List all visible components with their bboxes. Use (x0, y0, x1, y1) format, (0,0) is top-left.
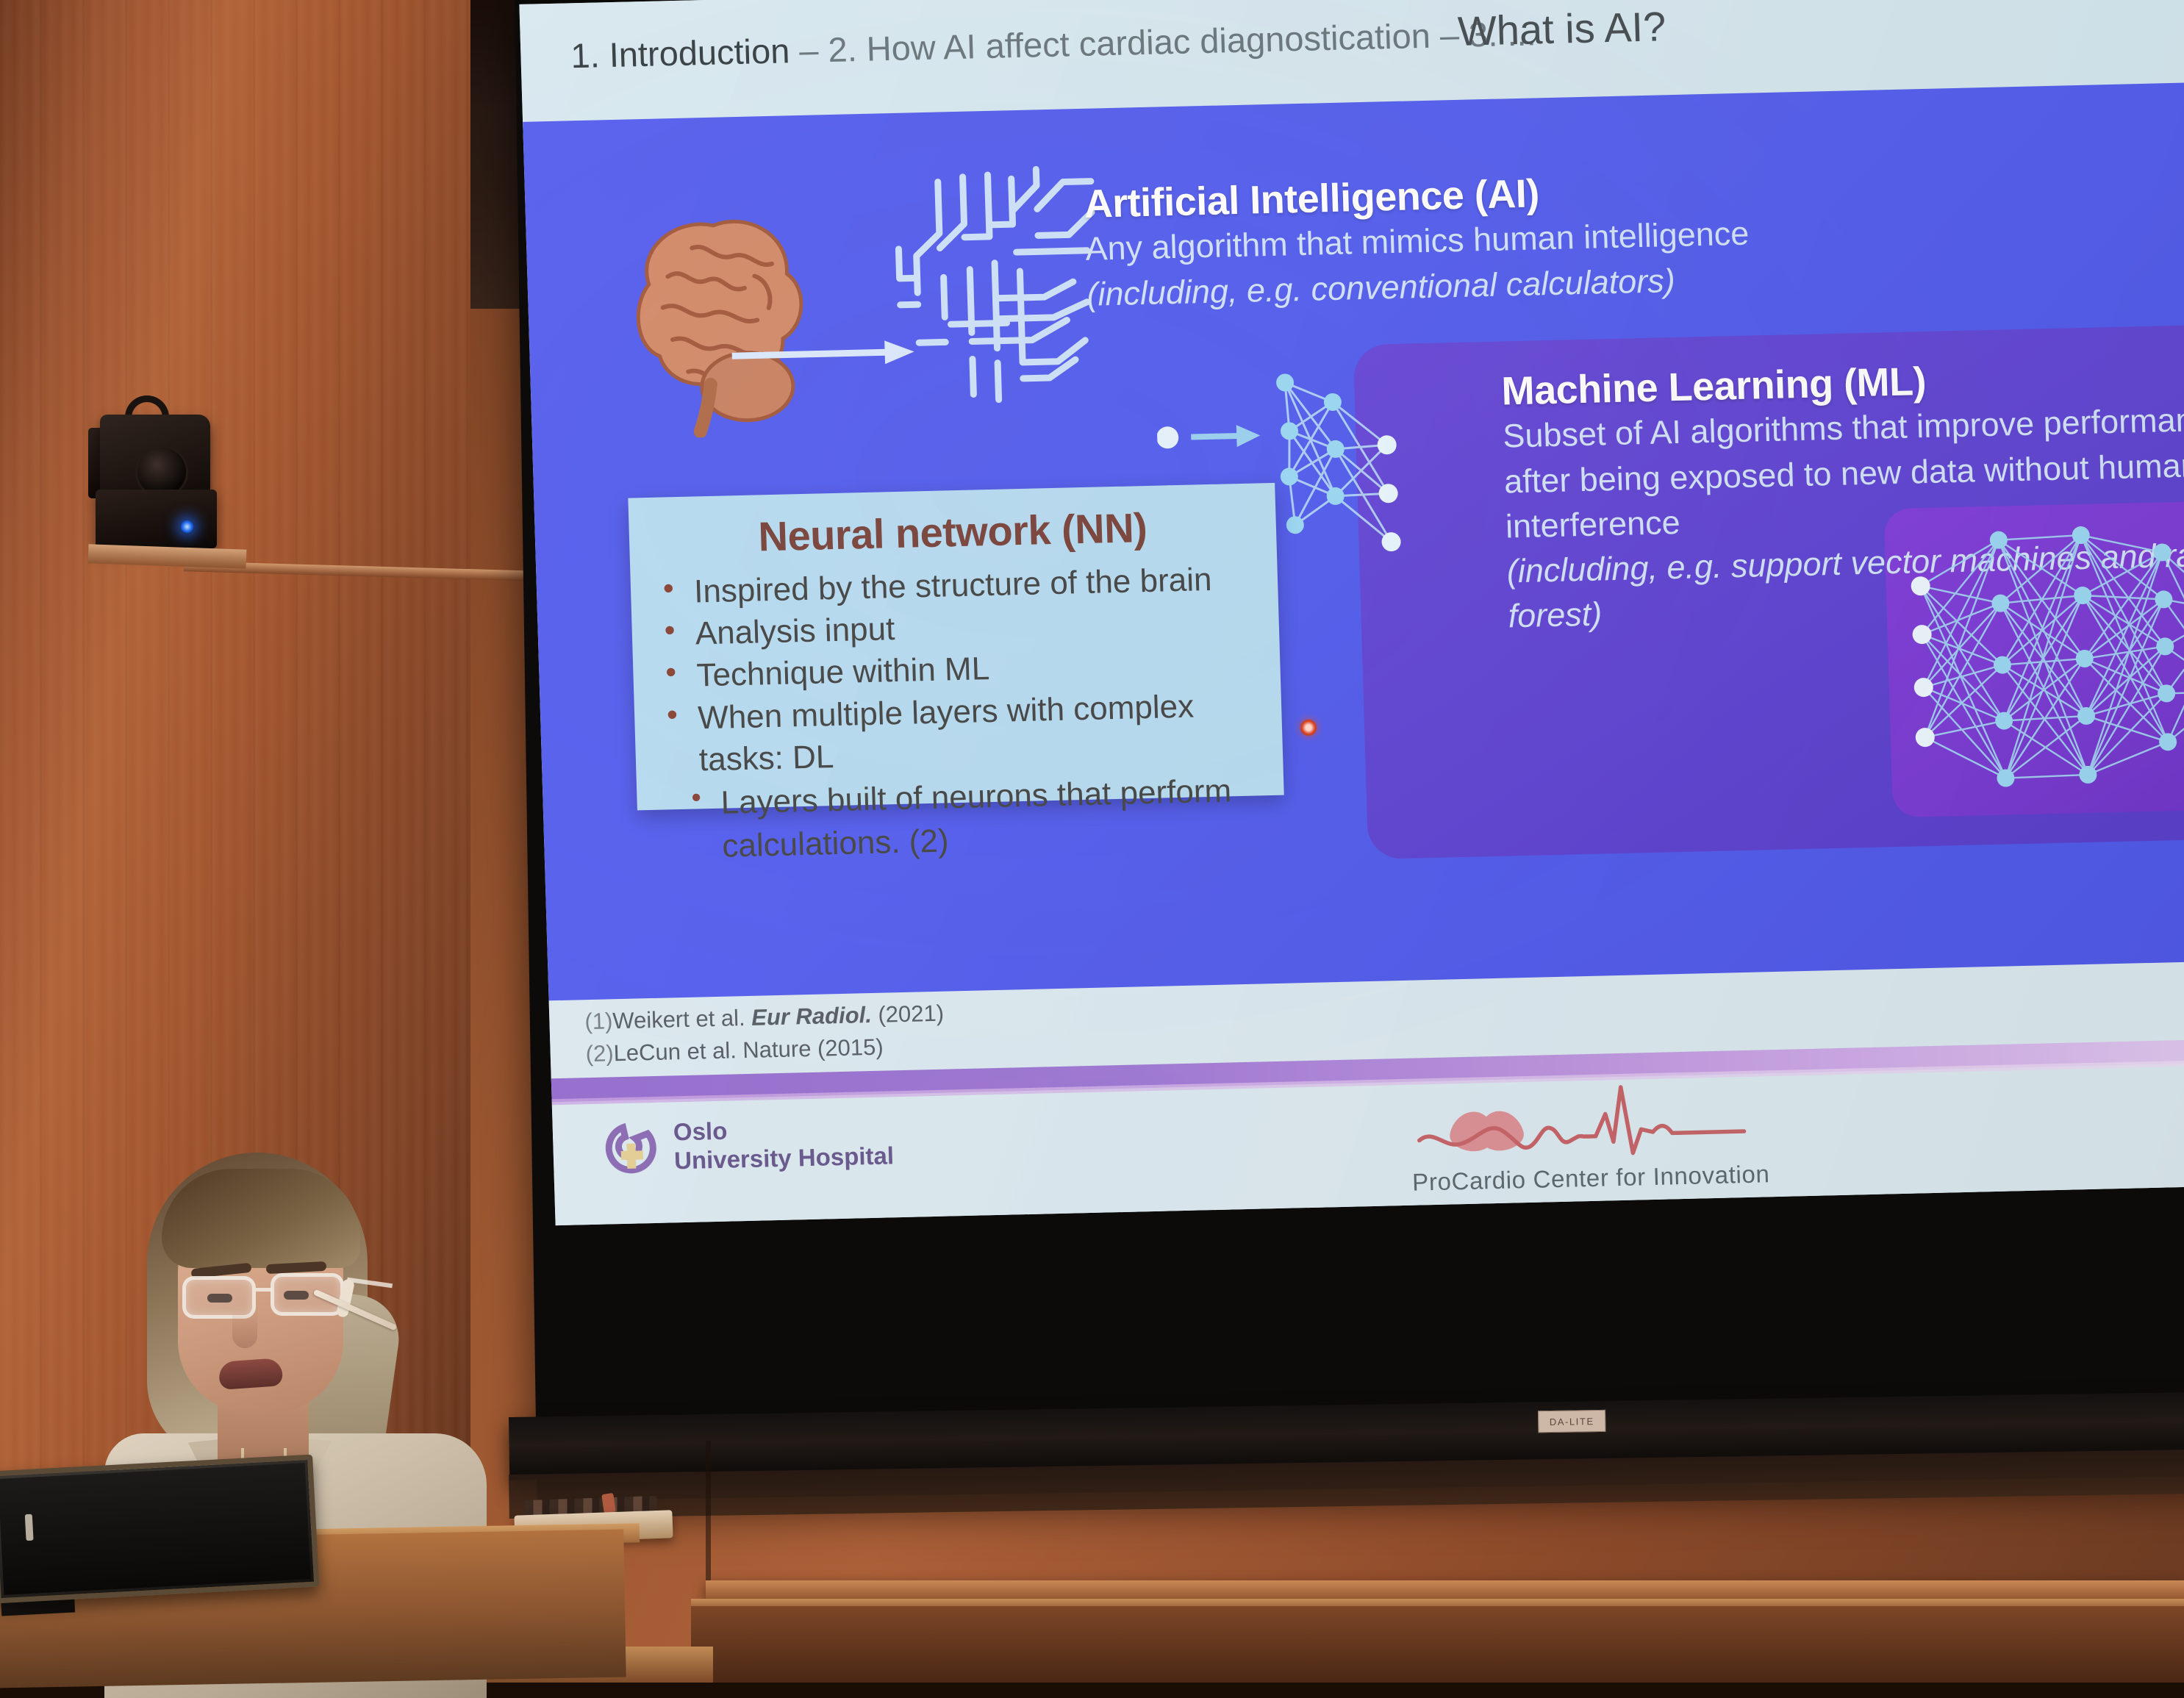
laptop-screen (0, 1463, 311, 1595)
citation-2-number: (2) (585, 1040, 614, 1067)
breadcrumb-separator: – (789, 30, 828, 70)
hair-front (162, 1169, 360, 1268)
list-item: When multiple layers with complex tasks:… (659, 683, 1283, 781)
brain-icon (595, 192, 845, 440)
page-title: What is AI? (1457, 2, 1666, 55)
projection-screen: 1. Introduction – 2. How AI affect cardi… (515, 0, 2184, 1501)
lecture-hall-room: 1. Introduction – 2. How AI affect cardi… (0, 0, 2184, 1683)
breadcrumb-item-2: 2. How AI affect cardiac diagnostication (828, 16, 1431, 69)
list-item: Layers built of neurons that perform cal… (682, 769, 1286, 870)
camera-status-led (181, 520, 193, 533)
nn-box-title: Neural network (NN) (629, 501, 1277, 564)
wall-camera (87, 395, 234, 557)
heart-ecg-icon (1397, 1078, 1782, 1164)
deep-neural-network-diagram (1902, 515, 2184, 809)
oslo-logo-icon (604, 1121, 659, 1175)
citation-1-number: (1) (584, 1008, 613, 1034)
front-desk (691, 1606, 2184, 1683)
citation-2-authors: LeCun et al. Nature (2015) (613, 1034, 884, 1067)
citation-1-year: (2021) (871, 1000, 944, 1028)
screen-brand-label: DA-LITE (1538, 1410, 1605, 1433)
procardio-logo-text: ProCardio Center for Innovation (1400, 1160, 1783, 1197)
record-indicator-dot (1300, 720, 1317, 737)
mouth (218, 1358, 283, 1390)
citation-1-journal: Eur Radiol. (751, 1002, 873, 1031)
slide-body: Artificial Intelligence (AI) Any algorit… (523, 82, 2184, 1003)
oslo-logo-line-2: University Hospital (674, 1142, 895, 1175)
clutter-red-object (601, 1493, 615, 1513)
screen-frame: 1. Introduction – 2. How AI affect cardi… (515, 0, 2184, 1501)
oslo-logo-text: Oslo University Hospital (673, 1113, 894, 1175)
camera-body (100, 415, 210, 495)
citation-2: (2)LeCun et al. Nature (2015) (585, 1034, 884, 1068)
laptop-screen-glow (25, 1514, 34, 1541)
nn-sub-bullet-list: Layers built of neurons that perform cal… (682, 769, 1286, 870)
camera-base (96, 490, 217, 548)
oslo-university-hospital-logo: Oslo University Hospital (604, 1113, 894, 1177)
nose (232, 1310, 257, 1348)
slide-content: 1. Introduction – 2. How AI affect cardi… (519, 0, 2184, 1225)
artificial-intelligence-text-block: Artificial Intelligence (AI) Any algorit… (1084, 166, 1786, 317)
procardio-logo: ProCardio Center for Innovation (1397, 1078, 1783, 1197)
nn-bullet-list: Inspired by the structure of the brain A… (655, 557, 1283, 782)
breadcrumb-item-1: 1. Introduction (570, 31, 790, 75)
breadcrumb: 1. Introduction – 2. How AI affect cardi… (570, 12, 1537, 76)
glasses-bridge (256, 1288, 272, 1292)
presenter-laptop (0, 1455, 319, 1604)
citation-1: (1)Weikert et al. Eur Radiol. (2021) (584, 1000, 945, 1035)
lens-right (271, 1273, 344, 1316)
citation-1-authors: Weikert et al. (612, 1005, 752, 1034)
neural-network-callout-box: Neural network (NN) Inspired by the stru… (628, 483, 1283, 811)
